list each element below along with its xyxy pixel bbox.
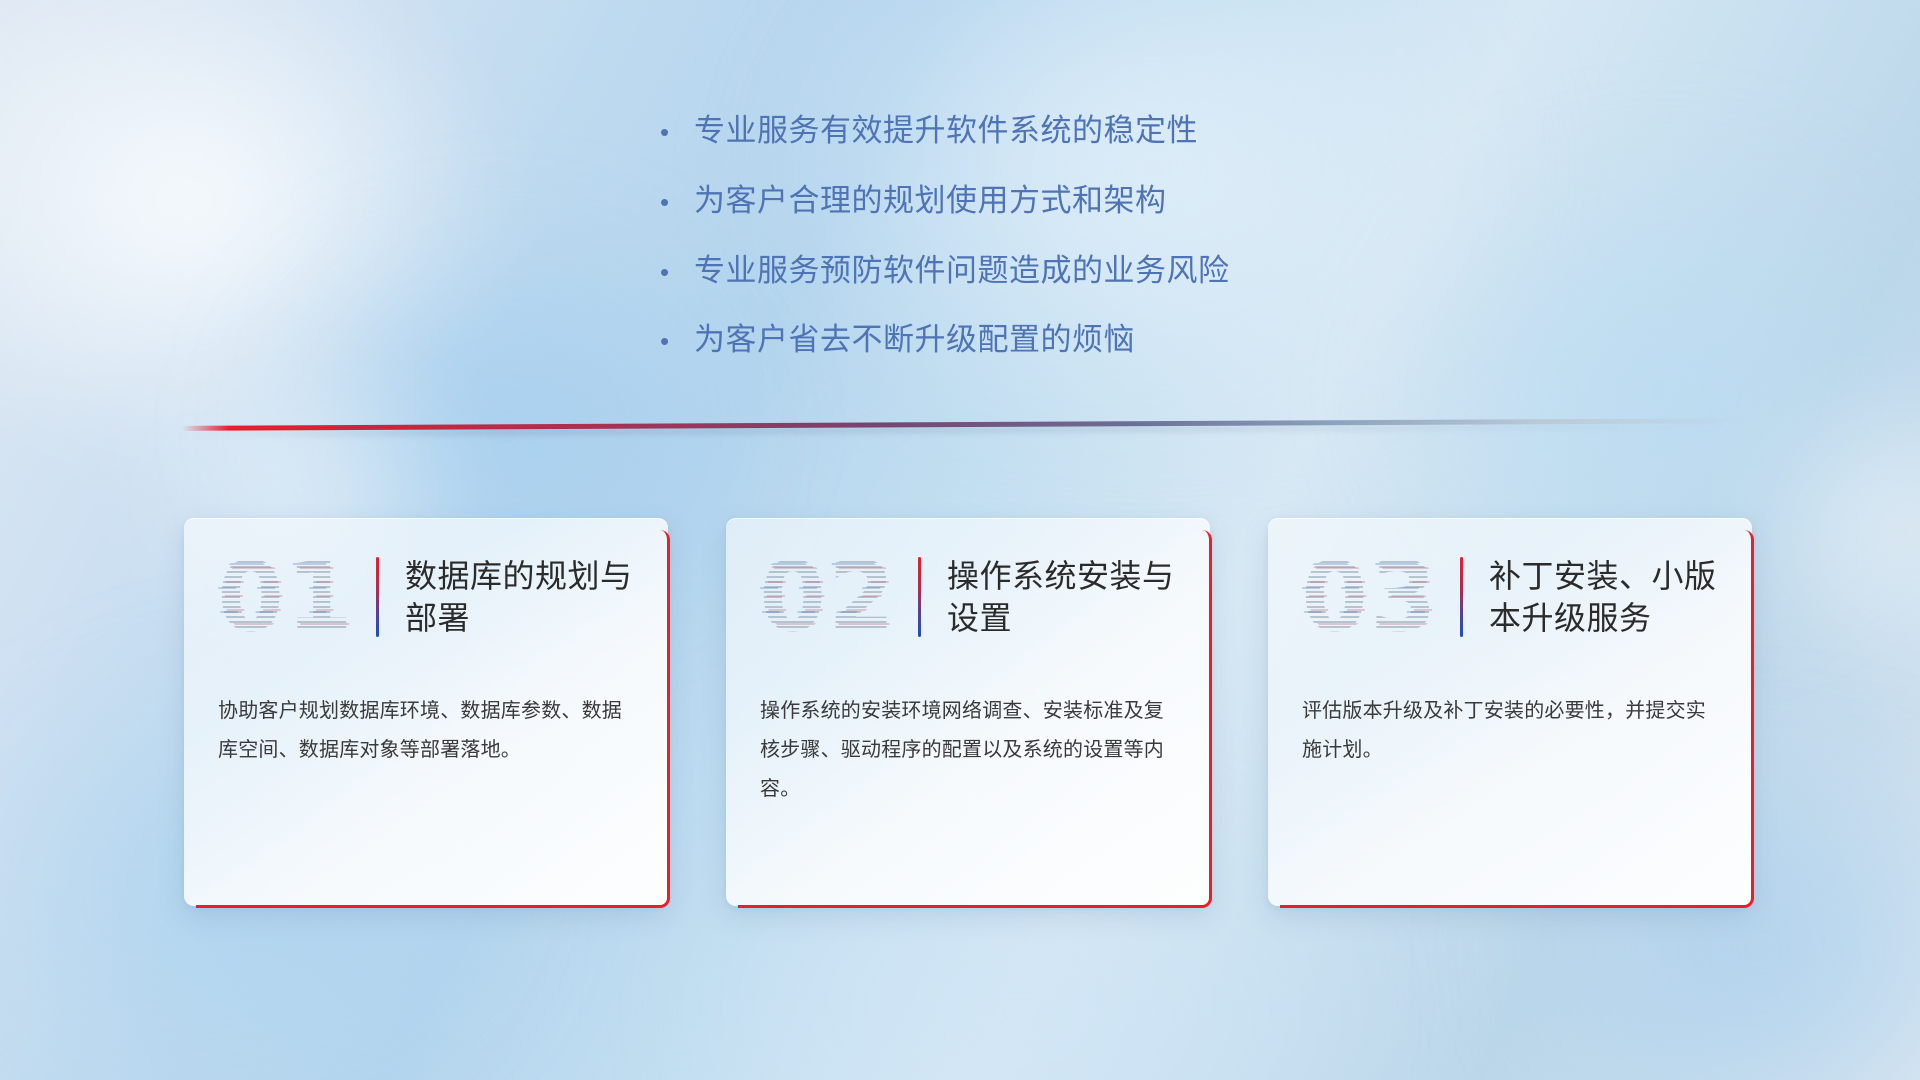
card-header: 03 03 03 补丁安装、小版本升级服务 [1268,518,1752,676]
service-card-02[interactable]: 02 02 02 操作系统安装与设置 操作系统的安装环境网络调查、安装标准及复核… [726,518,1210,906]
service-card-03[interactable]: 03 03 03 补丁安装、小版本升级服务 评估版本升级及补丁安装的必要性，并提… [1268,518,1752,906]
card-description: 评估版本升级及补丁安装的必要性，并提交实施计划。 [1268,692,1752,770]
card-title: 操作系统安装与设置 [947,555,1210,639]
service-card-01[interactable]: 01 01 01 数据库的规划与部署 协助客户规划数据库环境、数据库参数、数据库… [184,518,668,906]
card-title: 数据库的规划与部署 [405,555,668,639]
bullet-text: 专业服务有效提升软件系统的稳定性 [694,112,1198,150]
bullet-dot-icon: • [660,328,694,354]
card-accent-bar [376,557,379,637]
list-item: • 为客户合理的规划使用方式和架构 [660,182,1480,220]
card-description: 操作系统的安装环境网络调查、安装标准及复核步骤、驱动程序的配置以及系统的设置等内… [726,692,1210,809]
bullet-dot-icon: • [660,119,694,145]
list-item: • 专业服务有效提升软件系统的稳定性 [660,112,1480,150]
card-accent-bar [918,557,921,637]
card-accent-bar [1460,557,1463,637]
card-number-02: 02 02 02 [744,541,912,653]
benefits-bullet-list: • 专业服务有效提升软件系统的稳定性 • 为客户合理的规划使用方式和架构 • 专… [660,112,1480,391]
card-description: 协助客户规划数据库环境、数据库参数、数据库空间、数据库对象等部署落地。 [184,692,668,770]
bullet-text: 为客户合理的规划使用方式和架构 [694,182,1167,220]
service-card-list: 01 01 01 数据库的规划与部署 协助客户规划数据库环境、数据库参数、数据库… [184,518,1752,906]
list-item: • 专业服务预防软件问题造成的业务风险 [660,252,1480,290]
card-title: 补丁安装、小版本升级服务 [1489,555,1752,639]
card-number-layer-blue: 03 [1282,541,1450,653]
bullet-text: 专业服务预防软件问题造成的业务风险 [694,252,1230,290]
card-number-03: 03 03 03 [1286,541,1454,653]
card-number-layer-blue: 01 [198,541,366,653]
card-header: 02 02 02 操作系统安装与设置 [726,518,1210,676]
card-number-01: 01 01 01 [202,541,370,653]
background-glow-top-left [0,0,640,580]
bullet-text: 为客户省去不断升级配置的烦恼 [694,321,1135,359]
bullet-dot-icon: • [660,189,694,215]
bullet-dot-icon: • [660,259,694,285]
list-item: • 为客户省去不断升级配置的烦恼 [660,321,1480,359]
card-number-layer-blue: 02 [740,541,908,653]
slide-root: • 专业服务有效提升软件系统的稳定性 • 为客户合理的规划使用方式和架构 • 专… [0,0,1920,1080]
card-header: 01 01 01 数据库的规划与部署 [184,518,668,676]
section-divider [182,418,1762,434]
